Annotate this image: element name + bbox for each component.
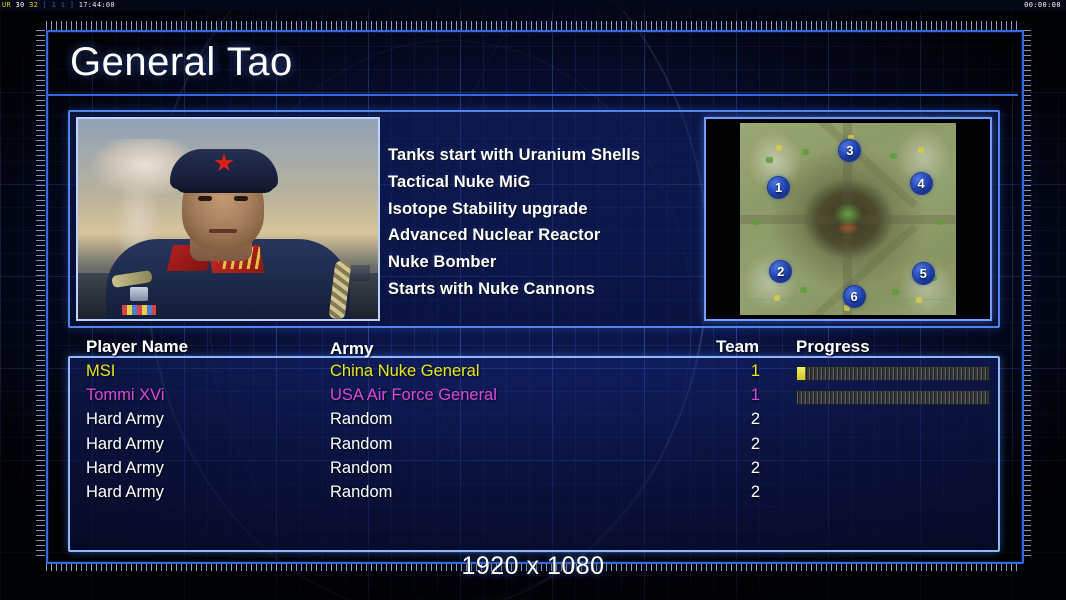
cell-player-name: Hard Army <box>86 459 164 478</box>
map-start-position-1: 1 <box>768 177 789 198</box>
debug-text: UR 30 32 [ 1 1 ] 17:44:00 <box>2 0 115 11</box>
ruler-top <box>46 21 1020 30</box>
map-tree <box>802 149 809 155</box>
loading-screen: UR 30 32 [ 1 1 ] 17:44:00 00:00:00 Gener… <box>0 0 1066 600</box>
cell-army: USA Air Force General <box>330 386 497 405</box>
table-row[interactable]: Hard ArmyRandom2 <box>78 483 996 507</box>
resolution-label: 1920 x 1080 <box>0 552 1066 581</box>
portrait-badge <box>130 287 148 301</box>
cell-team: 2 <box>738 459 760 478</box>
map-center-base <box>828 203 868 235</box>
header-player-name: Player Name <box>86 337 188 357</box>
table-row[interactable]: Tommi XViUSA Air Force General1 <box>78 386 996 410</box>
map-tree <box>752 219 759 225</box>
cell-army: Random <box>330 435 392 454</box>
table-header-row: Player Name Army Team Progress <box>78 337 996 359</box>
general-portrait <box>76 117 380 321</box>
table-row[interactable]: Hard ArmyRandom2 <box>78 459 996 483</box>
debug-status-bar: UR 30 32 [ 1 1 ] 17:44:00 00:00:00 <box>0 0 1066 11</box>
map-resource <box>916 297 922 303</box>
cell-army: China Nuke General <box>330 362 480 381</box>
bonus-line: Starts with Nuke Cannons <box>388 276 688 303</box>
map-resource <box>774 295 780 301</box>
map-tree <box>936 219 943 225</box>
debug-seg-4: 17:44:00 <box>79 1 115 9</box>
cell-team: 2 <box>738 435 760 454</box>
session-clock: 00:00:00 <box>1024 0 1061 11</box>
map-start-position-4: 4 <box>911 173 932 194</box>
bonus-line: Tactical Nuke MiG <box>388 169 688 196</box>
header-army: Army <box>330 339 373 359</box>
cell-team: 1 <box>738 386 760 405</box>
progress-bar-track <box>797 391 989 404</box>
table-row[interactable]: Hard ArmyRandom2 <box>78 410 996 434</box>
map-start-position-5: 5 <box>913 263 934 284</box>
cell-army: Random <box>330 410 392 429</box>
cell-team: 2 <box>738 483 760 502</box>
debug-seg-3: [ 1 1 ] <box>43 1 75 9</box>
bonus-line: Advanced Nuclear Reactor <box>388 222 688 249</box>
debug-seg-1: 30 <box>16 1 25 9</box>
map-resource <box>776 145 782 151</box>
progress-bar <box>796 390 990 405</box>
progress-bar-fill <box>797 367 805 380</box>
progress-bar-track <box>797 367 989 380</box>
map-terrain: 123456 <box>740 123 956 315</box>
map-start-position-6: 6 <box>844 286 865 307</box>
map-start-position-2: 2 <box>770 261 791 282</box>
portrait-eye-right <box>234 196 248 201</box>
cell-player-name: Hard Army <box>86 483 164 502</box>
portrait-medal-ribbon <box>122 305 156 315</box>
cell-player-name: MSI <box>86 362 115 381</box>
progress-bar <box>796 366 990 381</box>
portrait-eye-left <box>198 196 212 201</box>
header-team: Team <box>716 337 759 357</box>
map-resource <box>918 147 924 153</box>
cell-player-name: Hard Army <box>86 410 164 429</box>
table-row[interactable]: MSIChina Nuke General1 <box>78 362 996 386</box>
bonus-line: Nuke Bomber <box>388 249 688 276</box>
cell-army: Random <box>330 459 392 478</box>
header-progress: Progress <box>796 337 870 357</box>
cell-army: Random <box>330 483 392 502</box>
page-title: General Tao <box>70 40 293 85</box>
bonus-line: Isotope Stability upgrade <box>388 196 688 223</box>
portrait-mouth <box>209 229 237 233</box>
general-bonus-list: Tanks start with Uranium ShellsTactical … <box>388 142 688 303</box>
debug-seg-0: UR <box>2 1 11 9</box>
ruler-left <box>36 30 45 560</box>
cell-team: 2 <box>738 410 760 429</box>
map-tree <box>890 153 897 159</box>
bonus-line: Tanks start with Uranium Shells <box>388 142 688 169</box>
cell-team: 1 <box>738 362 760 381</box>
table-row[interactable]: Hard ArmyRandom2 <box>78 435 996 459</box>
map-preview: 123456 <box>704 117 992 321</box>
cell-player-name: Tommi XVi <box>86 386 165 405</box>
map-tree <box>800 287 807 293</box>
player-rows: MSIChina Nuke General1Tommi XViUSA Air F… <box>78 362 996 507</box>
map-tree <box>766 157 773 163</box>
debug-seg-2: 32 <box>29 1 38 9</box>
map-tree <box>892 289 899 295</box>
cell-player-name: Hard Army <box>86 435 164 454</box>
